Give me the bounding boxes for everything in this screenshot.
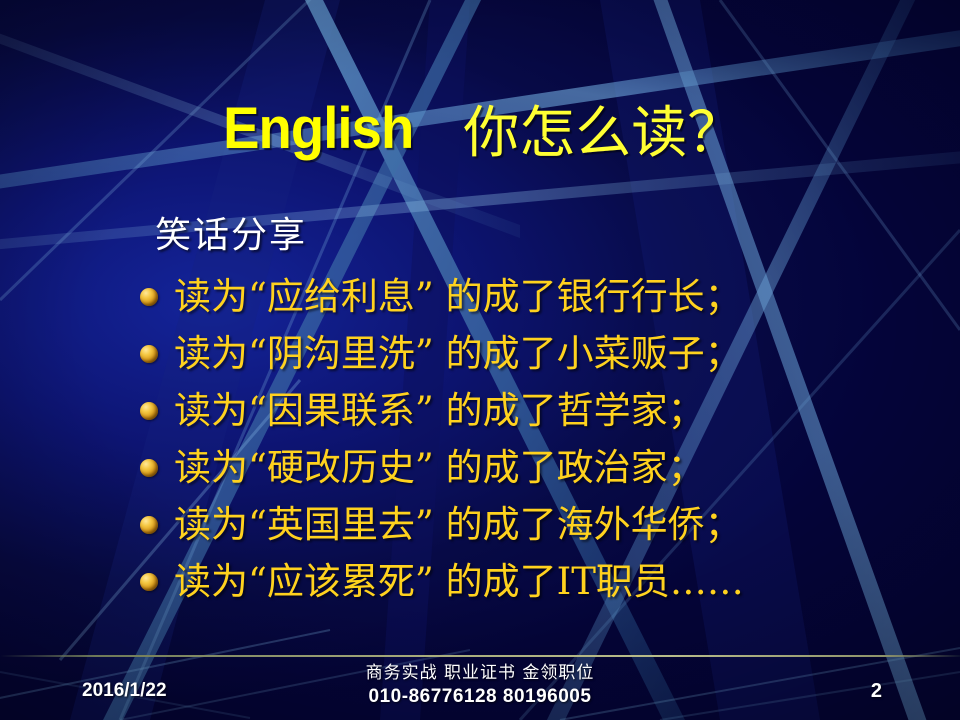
slide-title: English你怎么读？ <box>0 88 960 169</box>
list-item-text: 读为“应给利息” 的成了银行行长； <box>174 278 742 315</box>
footer-page-number: 2 <box>871 680 882 703</box>
list-item: 读为“因果联系” 的成了哲学家； <box>140 382 744 439</box>
list-item-text: 读为“阴沟里洗” 的成了小菜贩子； <box>174 335 742 372</box>
gold-sphere-bullet-icon <box>140 402 158 420</box>
list-item: 读为“应该累死” 的成了IT职员…… <box>140 553 744 610</box>
gold-sphere-bullet-icon <box>140 516 158 534</box>
slide-footer: 2016/1/22 商务实战 职业证书 金领职位 010-86776128 80… <box>0 656 960 720</box>
gold-sphere-bullet-icon <box>140 459 158 477</box>
gold-sphere-bullet-icon <box>140 345 158 363</box>
footer-center-block: 商务实战 职业证书 金领职位 010-86776128 80196005 <box>0 658 960 708</box>
title-chinese-text: 你怎么读？ <box>463 88 743 169</box>
footer-tagline: 商务实战 职业证书 金领职位 <box>0 658 960 683</box>
title-english-text: English <box>223 95 413 162</box>
list-item-text: 读为“因果联系” 的成了哲学家； <box>174 392 705 429</box>
list-item-text: 读为“硬改历史” 的成了政治家； <box>174 449 705 486</box>
list-item: 读为“硬改历史” 的成了政治家； <box>140 439 744 496</box>
bullet-list: 读为“应给利息” 的成了银行行长； 读为“阴沟里洗” 的成了小菜贩子； 读为“因… <box>140 268 744 610</box>
presentation-slide: English你怎么读？ 笑话分享 读为“应给利息” 的成了银行行长； 读为“阴… <box>0 0 960 720</box>
footer-phone: 010-86776128 80196005 <box>0 686 960 708</box>
gold-sphere-bullet-icon <box>140 288 158 306</box>
list-item: 读为“阴沟里洗” 的成了小菜贩子； <box>140 325 744 382</box>
list-item: 读为“应给利息” 的成了银行行长； <box>140 268 744 325</box>
body-subheading: 笑话分享 <box>155 206 307 258</box>
list-item-text: 读为“应该累死” 的成了IT职员…… <box>174 563 744 600</box>
gold-sphere-bullet-icon <box>140 573 158 591</box>
list-item: 读为“英国里去” 的成了海外华侨； <box>140 496 744 553</box>
list-item-text: 读为“英国里去” 的成了海外华侨； <box>174 506 742 543</box>
